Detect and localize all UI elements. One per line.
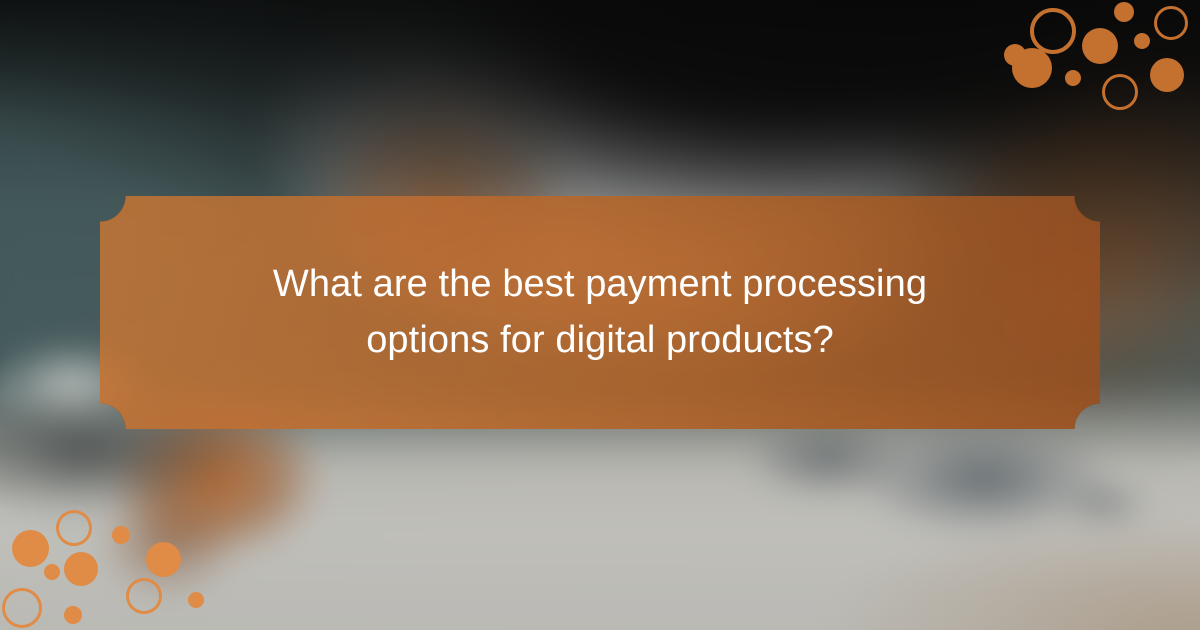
decorative-circle [112,526,130,544]
decorative-circle [1012,48,1052,88]
decorative-circle [1082,28,1118,64]
decorative-circle [1150,58,1184,92]
decorative-circle [44,564,60,580]
question-headline: What are the best payment processing opt… [260,257,940,368]
decorative-circle [56,510,92,546]
decorative-dots-bottom-left [0,500,215,630]
decorative-circle [64,552,98,586]
decorative-circle [1114,2,1134,22]
decorative-circle [126,578,162,614]
decorative-circle [64,606,82,624]
decorative-circle [1102,74,1138,110]
screenshot-canvas: What are the best payment processing opt… [0,0,1200,630]
banner-text-area: What are the best payment processing opt… [100,196,1100,429]
decorative-circle [2,588,42,628]
decorative-circle [1134,33,1150,49]
decorative-circle [1154,6,1188,40]
decorative-circle [12,530,49,567]
decorative-circle [188,592,204,608]
decorative-circle [1065,70,1081,86]
decorative-dots-top-right [990,0,1200,125]
question-banner: What are the best payment processing opt… [100,196,1100,429]
decorative-circle [1030,8,1076,54]
decorative-circle [146,542,181,577]
